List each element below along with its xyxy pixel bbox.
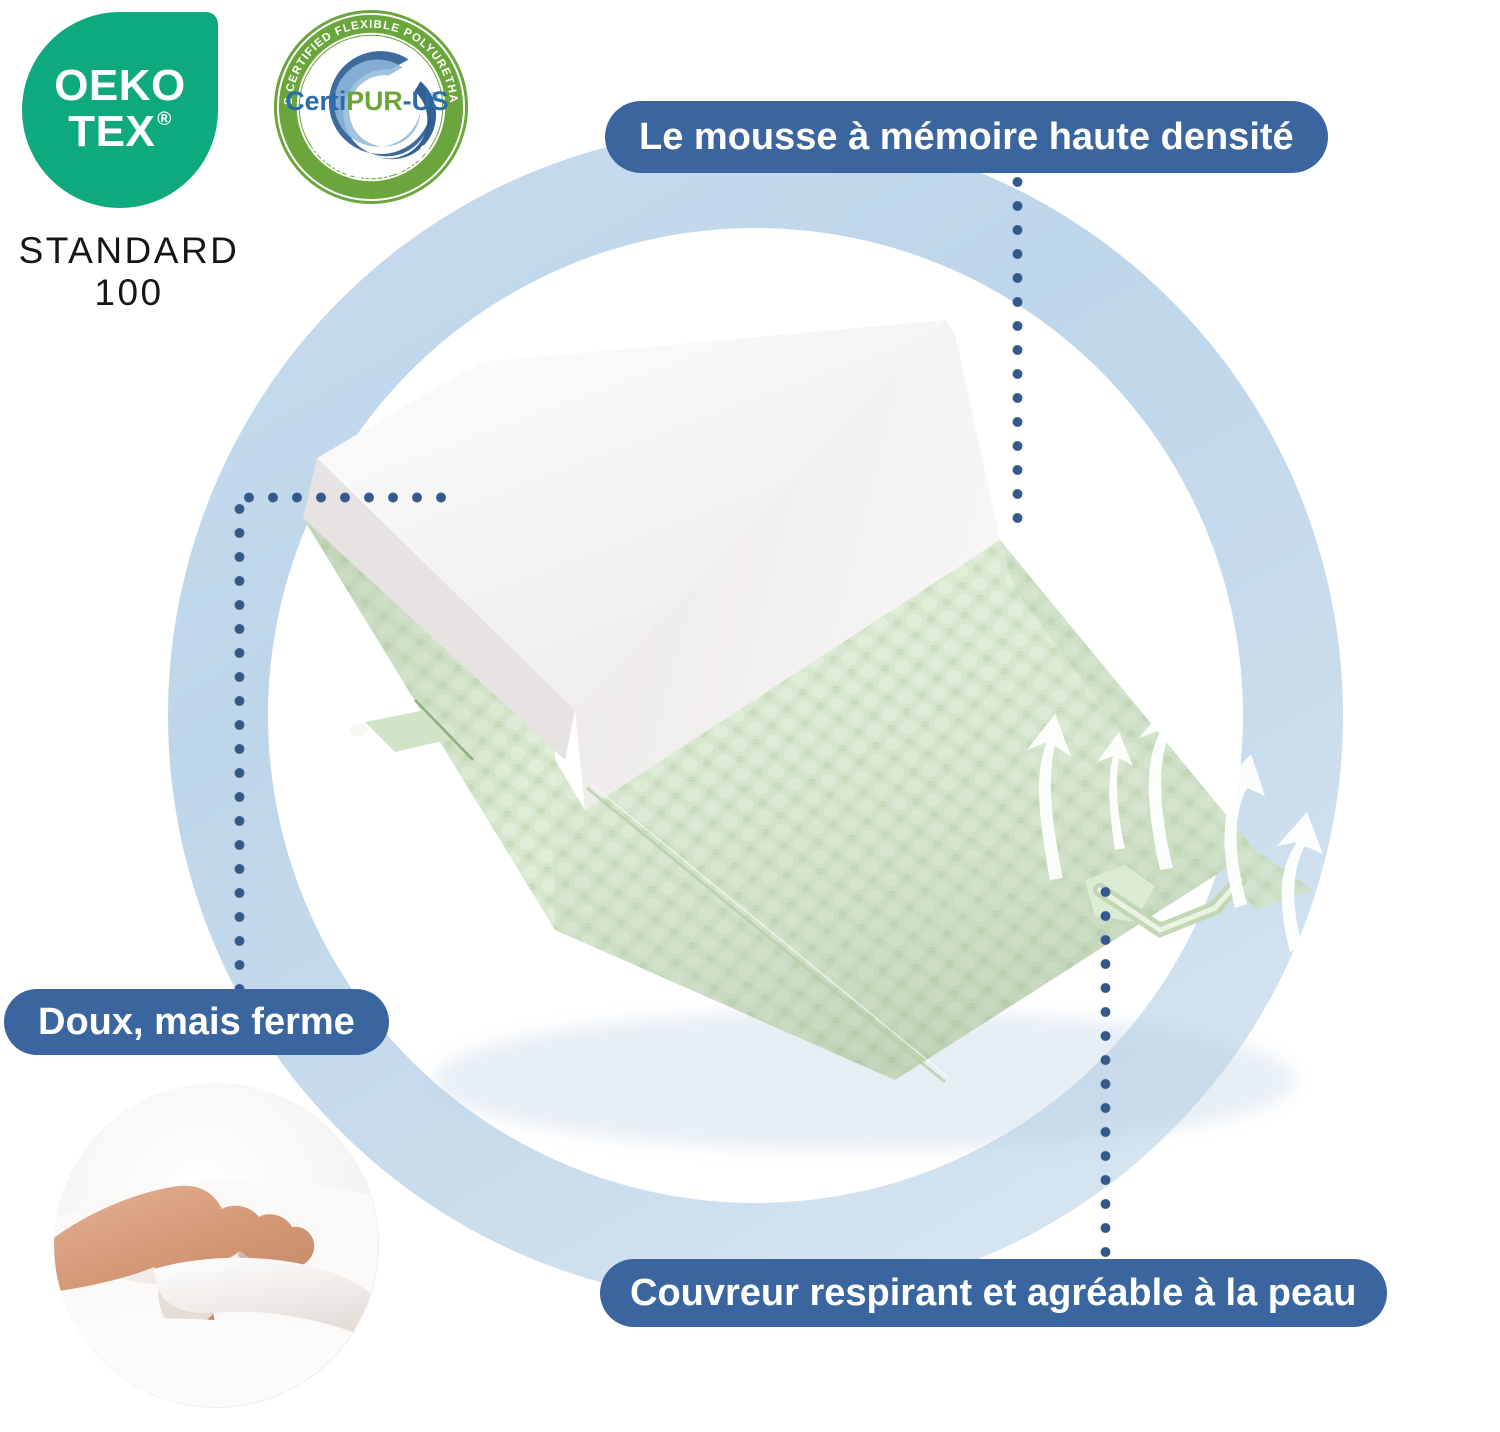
leader-line-breathable-cover xyxy=(1099,880,1112,1264)
callout-soft-but-firm[interactable]: Doux, mais ferme xyxy=(4,989,389,1055)
callout-high-density-memory-foam[interactable]: Le mousse à mémoire haute densité xyxy=(605,101,1328,173)
oeko-tex-standard-number: 100 xyxy=(14,272,244,314)
hand-pressing-foam-photo xyxy=(54,1083,379,1408)
svg-text:CertiPUR-US: CertiPUR-US xyxy=(285,86,448,116)
leader-line-soft-firm-vertical xyxy=(233,497,246,997)
product-wedge-pillow xyxy=(255,290,1365,1170)
oeko-tex-standard-label: STANDARD xyxy=(14,228,244,274)
oeko-tex-line1: OEKO xyxy=(54,64,186,108)
leader-line-soft-firm-horizontal xyxy=(237,491,459,504)
infographic-canvas: OEKO TEX® STANDARD 100 CONTAINS CERTIFIE… xyxy=(0,0,1500,1432)
svg-text:®: ® xyxy=(430,91,438,102)
callout-breathable-cover[interactable]: Couvreur respirant et agréable à la peau xyxy=(600,1259,1387,1327)
callout-label: Couvreur respirant et agréable à la peau xyxy=(630,1272,1357,1315)
callout-label: Doux, mais ferme xyxy=(38,1001,355,1044)
leader-line-high-density xyxy=(1011,170,1024,532)
registered-mark-icon: ® xyxy=(157,110,172,131)
oeko-tex-logo: OEKO TEX® xyxy=(22,12,218,208)
oeko-tex-word: TEX xyxy=(68,108,155,156)
oeko-tex-line2: TEX® xyxy=(68,108,172,156)
callout-label: Le mousse à mémoire haute densité xyxy=(639,116,1294,159)
certipur-us-badge: CONTAINS CERTIFIED FLEXIBLE POLYURETHANE… xyxy=(272,8,470,206)
